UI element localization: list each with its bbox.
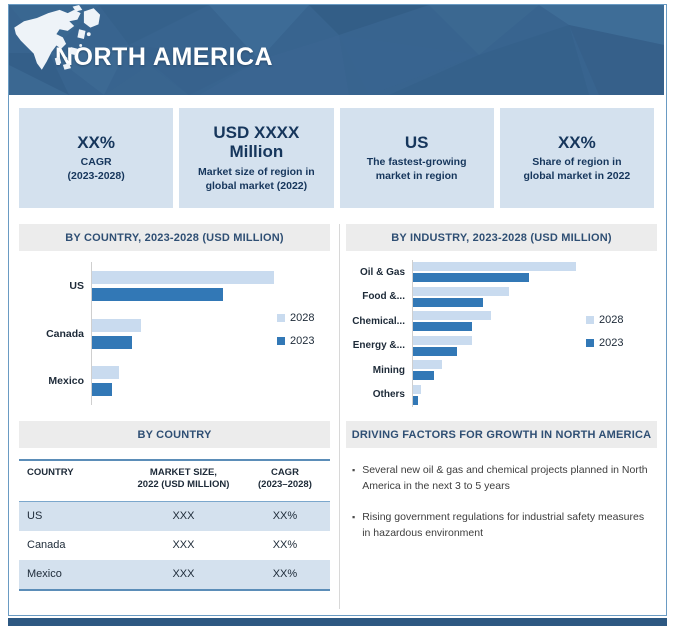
bar-category-label: Oil & Gas <box>346 267 412 278</box>
panel-divider <box>339 224 340 609</box>
driving-factor-item: ▪Rising government regulations for indus… <box>352 509 652 542</box>
section-header-country-chart: BY COUNTRY, 2023-2028 (USD MILLION) <box>19 224 330 251</box>
bar-2023 <box>92 288 223 301</box>
kpi-card-row: XX% CAGR (2023-2028) USD XXXX Million Ma… <box>9 108 664 208</box>
bar-group: Mexico <box>19 357 275 405</box>
kpi-label: CAGR (2023-2028) <box>68 155 125 183</box>
kpi-card-fastest-market: US The fastest-growing market in region <box>340 108 494 208</box>
bar-category-label: Others <box>346 389 412 400</box>
table-header-country: COUNTRY <box>19 460 127 501</box>
kpi-label: The fastest-growing market in region <box>367 155 467 183</box>
kpi-label: Market size of region in global market (… <box>198 165 315 193</box>
legend-swatch-icon <box>277 314 285 322</box>
bar-stack <box>412 309 578 334</box>
bar-2023 <box>413 298 483 307</box>
bar-category-label: Chemical... <box>346 316 412 327</box>
header-banner: NORTH AMERICA <box>9 5 664 95</box>
section-header-driving-factors: DRIVING FACTORS FOR GROWTH IN NORTH AMER… <box>346 421 657 448</box>
legend-item-2028: 2028 <box>277 312 314 324</box>
north-america-map-icon <box>9 5 107 73</box>
footer-bar <box>8 618 667 626</box>
bar-group: Canada <box>19 310 275 358</box>
kpi-card-share: XX% Share of region in global market in … <box>500 108 654 208</box>
section-header-industry-chart: BY INDUSTRY, 2023-2028 (USD MILLION) <box>346 224 657 251</box>
kpi-label-line1: CAGR <box>68 155 125 169</box>
table-header-market-size: MARKET SIZE, 2022 (USD MILLION) <box>127 460 240 501</box>
bar-2023 <box>413 322 472 331</box>
kpi-label-line1: Market size of region in <box>198 165 315 179</box>
bar-2023 <box>413 371 434 380</box>
driving-factor-item: ▪Several new oil & gas and chemical proj… <box>352 462 652 495</box>
table-header-market-size-line1: MARKET SIZE, <box>131 467 236 479</box>
table-bottom-rule <box>19 589 330 591</box>
cell-cagr: XX% <box>240 501 330 531</box>
bar-stack <box>412 358 578 383</box>
kpi-card-market-size: USD XXXX Million Market size of region i… <box>179 108 333 208</box>
cell-cagr: XX% <box>240 560 330 589</box>
cell-country: US <box>19 501 127 531</box>
table-row: MexicoXXXXX% <box>19 560 330 589</box>
driving-factors-list: ▪Several new oil & gas and chemical proj… <box>352 462 652 555</box>
kpi-card-cagr: XX% CAGR (2023-2028) <box>19 108 173 208</box>
country-bar-chart: USCanadaMexico 20282023 <box>19 256 330 411</box>
table-header-cagr: CAGR (2023–2028) <box>240 460 330 501</box>
driving-factor-text: Several new oil & gas and chemical proje… <box>362 462 652 495</box>
legend-label: 2028 <box>290 312 314 324</box>
legend-label: 2023 <box>290 335 314 347</box>
bar-category-label: Food &... <box>346 291 412 302</box>
bar-2028 <box>413 360 442 369</box>
kpi-value: XX% <box>558 133 596 153</box>
table-row: CanadaXXXXX% <box>19 531 330 560</box>
bar-2028 <box>413 262 576 271</box>
infographic-page: NORTH AMERICA XX% CAGR (2023-2028) <box>0 0 675 630</box>
legend-item-2023: 2023 <box>277 335 314 347</box>
bar-category-label: Mining <box>346 365 412 376</box>
legend-label: 2028 <box>599 314 623 326</box>
cell-market-size: XXX <box>127 560 240 589</box>
kpi-value: US <box>405 133 429 153</box>
legend-swatch-icon <box>277 337 285 345</box>
bar-2023 <box>92 383 112 396</box>
cell-market-size: XXX <box>127 501 240 531</box>
cell-cagr: XX% <box>240 531 330 560</box>
country-chart-bars: USCanadaMexico <box>19 256 275 411</box>
bar-group: Chemical... <box>346 309 578 334</box>
industry-bar-chart: Oil & GasFood &...Chemical...Energy &...… <box>346 256 657 411</box>
section-header-country-table: BY COUNTRY <box>19 421 330 448</box>
bar-group: Oil & Gas <box>346 260 578 285</box>
table-body: USXXXXX%CanadaXXXXX%MexicoXXXXX% <box>19 501 330 589</box>
bar-2028 <box>413 287 509 296</box>
kpi-label: Share of region in global market in 2022 <box>523 155 630 183</box>
bar-2023 <box>413 273 529 282</box>
bar-2028 <box>413 311 491 320</box>
legend-item-2028: 2028 <box>586 314 623 326</box>
bar-category-label: US <box>19 280 91 292</box>
table-header-cagr-line2: (2023–2028) <box>244 479 326 491</box>
industry-chart-bars: Oil & GasFood &...Chemical...Energy &...… <box>346 256 578 411</box>
bar-stack <box>91 357 275 405</box>
cell-country: Canada <box>19 531 127 560</box>
bar-category-label: Mexico <box>19 375 91 387</box>
bar-category-label: Energy &... <box>346 340 412 351</box>
kpi-label-line2: global market (2022) <box>198 179 315 193</box>
kpi-label-line1: The fastest-growing <box>367 155 467 169</box>
bar-2028 <box>92 319 141 332</box>
bar-2023 <box>413 396 418 405</box>
table-header-row: COUNTRY MARKET SIZE, 2022 (USD MILLION) … <box>19 460 330 501</box>
kpi-label-line1: Share of region in <box>523 155 630 169</box>
bar-group: Energy &... <box>346 334 578 359</box>
table-header-cagr-line1: CAGR <box>244 467 326 479</box>
bar-group: US <box>19 262 275 310</box>
bar-category-label: Canada <box>19 328 91 340</box>
bar-stack <box>412 383 578 408</box>
bar-group: Others <box>346 383 578 408</box>
kpi-value: USD XXXX Million <box>185 123 327 162</box>
bar-2023 <box>413 347 457 356</box>
bar-stack <box>412 260 578 285</box>
bar-group: Food &... <box>346 285 578 310</box>
bar-2028 <box>92 271 274 284</box>
table-header-market-size-line2: 2022 (USD MILLION) <box>131 479 236 491</box>
legend-item-2023: 2023 <box>586 337 623 349</box>
kpi-value: XX% <box>77 133 115 153</box>
kpi-label-line2: market in region <box>367 169 467 183</box>
kpi-label-line2: (2023-2028) <box>68 169 125 183</box>
legend-swatch-icon <box>586 316 594 324</box>
kpi-label-line2: global market in 2022 <box>523 169 630 183</box>
bar-2028 <box>413 336 472 345</box>
bullet-icon: ▪ <box>352 464 355 477</box>
table-row: USXXXXX% <box>19 501 330 531</box>
bar-stack <box>412 334 578 359</box>
legend-swatch-icon <box>586 339 594 347</box>
legend-label: 2023 <box>599 337 623 349</box>
bar-stack <box>91 262 275 310</box>
bar-2028 <box>413 385 421 394</box>
cell-market-size: XXX <box>127 531 240 560</box>
country-chart-legend: 20282023 <box>277 312 314 347</box>
bar-group: Mining <box>346 358 578 383</box>
bar-stack <box>412 285 578 310</box>
driving-factor-text: Rising government regulations for indust… <box>362 509 652 542</box>
country-market-table: COUNTRY MARKET SIZE, 2022 (USD MILLION) … <box>19 459 330 591</box>
bar-2028 <box>92 366 119 379</box>
bar-2023 <box>92 336 132 349</box>
bullet-icon: ▪ <box>352 511 355 524</box>
cell-country: Mexico <box>19 560 127 589</box>
industry-chart-legend: 20282023 <box>586 314 623 349</box>
bar-stack <box>91 310 275 358</box>
